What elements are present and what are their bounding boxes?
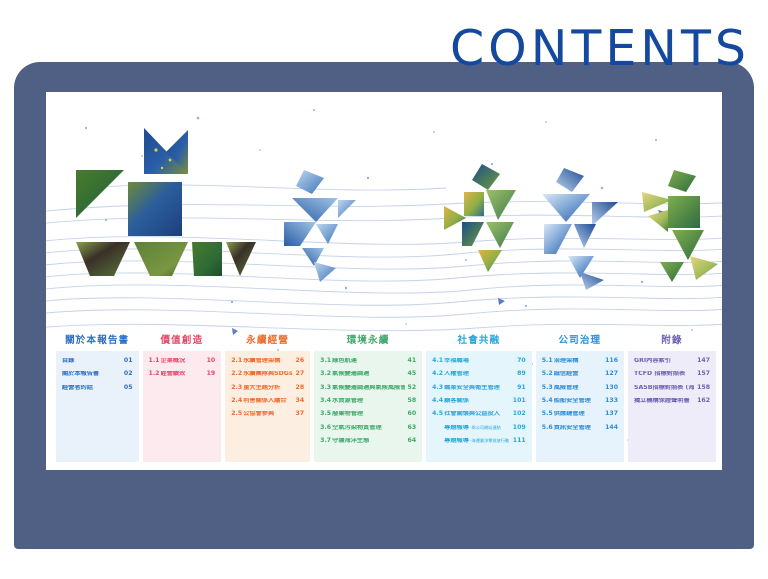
toc-entry-title: 專題報導 ·海運業淨零排放行動 xyxy=(444,438,510,445)
toc-entry[interactable]: 3.2氣候變遷調適45 xyxy=(320,371,416,378)
toc-entry[interactable]: 專題報導 ·海運業淨零排放行動111 xyxy=(432,438,526,445)
column-header-about-report: 關於本報告書 xyxy=(56,332,139,351)
toc-entry[interactable]: 4.4顧客關係101 xyxy=(432,398,526,405)
toc-entry-title: 守護海洋生態 xyxy=(332,438,404,445)
column-body-about-report: 目錄01關於本報告書02經營者的話05 xyxy=(56,351,139,462)
toc-entry-page: 41 xyxy=(405,358,417,365)
toc-entry-title: 永續團隊與SDGs xyxy=(243,371,292,378)
toc-entry-title: 目錄 xyxy=(62,358,121,365)
toc-entry-title: 經營績效 xyxy=(161,371,204,378)
column-header-appendix: 附錄 xyxy=(628,332,716,351)
toc-entry[interactable]: 3.1綠色航運41 xyxy=(320,358,416,365)
toc-entry-page: 26 xyxy=(293,358,305,365)
toc-entry-title-text: 企業概況 xyxy=(161,358,186,364)
toc-entry-title-text: 氣候變遷調適與氣候風險管理 xyxy=(332,385,404,391)
toc-entry[interactable]: 2.1永續管理架構26 xyxy=(231,358,304,365)
toc-entry-title: 氣候變遷調適 xyxy=(332,371,404,378)
contents-columns: 關於本報告書目錄01關於本報告書02經營者的話05價值創造1.1企業概況101.… xyxy=(56,332,716,462)
page-title: CONTENTS xyxy=(450,24,750,73)
toc-entry-title-text: 空氣污染物質管理 xyxy=(332,425,382,431)
toc-entry-number: 3.5 xyxy=(320,411,332,418)
toc-entry-page: 101 xyxy=(510,398,526,405)
toc-entry-title-text: 重大主題分析 xyxy=(243,385,280,391)
toc-entry-title: 專題報導 ·與公司網站連結 xyxy=(444,425,510,432)
toc-entry-title-text: 職業安全與衛生管理 xyxy=(444,385,500,391)
toc-entry[interactable]: 1.2經營績效19 xyxy=(149,371,216,378)
column-body-environmental-sustainability: 3.1綠色航運413.2氣候變遷調適453.3氣候變遷調適與氣候風險管理523.… xyxy=(314,351,422,462)
column-header-sustainable-management: 永續經營 xyxy=(225,332,310,351)
toc-entry-title: 廢棄物管理 xyxy=(332,411,404,418)
toc-entry-page: 127 xyxy=(602,371,618,378)
toc-entry-title: 社會關懷與公益投入 xyxy=(444,411,510,418)
toc-entry-title: 水資源管理 xyxy=(332,398,404,405)
toc-entry-number: 3.7 xyxy=(320,438,332,445)
toc-entry-page: 34 xyxy=(293,398,305,405)
toc-entry[interactable]: 3.3氣候變遷調適與氣候風險管理52 xyxy=(320,385,416,392)
toc-entry-title-text: SASB指標對照表 (海洋運輸業) xyxy=(634,385,694,391)
toc-entry-title: 利害關係人議合 xyxy=(243,398,292,405)
toc-entry-number: 3.4 xyxy=(320,398,332,405)
toc-entry-page: 05 xyxy=(121,385,133,392)
toc-entry-page: 27 xyxy=(293,371,305,378)
toc-entry-page: 58 xyxy=(405,398,417,405)
column-body-sustainable-management: 2.1永續管理架構262.2永續團隊與SDGs272.3重大主題分析282.4利… xyxy=(225,351,310,462)
toc-entry-page: 116 xyxy=(602,358,618,365)
toc-entry-title-text: 經營者的話 xyxy=(62,385,93,391)
column-header-corporate-governance: 公司治理 xyxy=(536,332,624,351)
toc-entry-title-text: 船舶安全管理 xyxy=(554,398,591,404)
toc-entry-number: 5.4 xyxy=(542,398,554,405)
column-header-value-creation: 價值創造 xyxy=(143,332,222,351)
toc-entry-title: 空氣污染物質管理 xyxy=(332,425,404,432)
toc-entry-page: 02 xyxy=(121,371,133,378)
toc-entry-number: 5.6 xyxy=(542,425,554,432)
toc-entry-title: 人權管理 xyxy=(444,371,514,378)
toc-entry[interactable]: 4.2人權管理89 xyxy=(432,371,526,378)
column-body-social-inclusion: 4.1幸福職場704.2人權管理894.3職業安全與衛生管理914.4顧客關係1… xyxy=(426,351,532,462)
toc-entry[interactable]: 2.4利害關係人議合34 xyxy=(231,398,304,405)
toc-entry-subtitle: ·海運業淨零排放行動 xyxy=(469,438,509,443)
toc-entry[interactable]: 2.3重大主題分析28 xyxy=(231,385,304,392)
toc-entry-title: 幸福職場 xyxy=(444,358,514,365)
toc-entry-title-text: 水資源管理 xyxy=(332,398,363,404)
toc-entry[interactable]: 2.2永續團隊與SDGs27 xyxy=(231,371,304,378)
toc-entry-page: 89 xyxy=(514,371,526,378)
toc-entry-title-text: 專題報導 xyxy=(444,438,469,444)
toc-entry-page: 52 xyxy=(405,385,417,392)
toc-entry-page: 111 xyxy=(510,438,526,445)
toc-entry[interactable]: 4.5社會關懷與公益投入102 xyxy=(432,411,526,418)
toc-entry-page: 37 xyxy=(293,411,305,418)
toc-entry-page: 158 xyxy=(694,385,710,392)
toc-entry-number: 3.1 xyxy=(320,358,332,365)
toc-entry-number: 4.1 xyxy=(432,358,444,365)
toc-entry-title: 重大主題分析 xyxy=(243,385,292,392)
column-body-value-creation: 1.1企業概況101.2經營績效19 xyxy=(143,351,222,462)
toc-entry-title: 關於本報告書 xyxy=(62,371,121,378)
contents-column-social-inclusion: 社會共融4.1幸福職場704.2人權管理894.3職業安全與衛生管理914.4顧… xyxy=(426,332,532,462)
toc-entry-number: 2.4 xyxy=(231,398,243,405)
toc-entry-page: 64 xyxy=(405,438,417,445)
toc-entry-title-text: 誠信經營 xyxy=(554,371,579,377)
toc-entry[interactable]: 4.3職業安全與衛生管理91 xyxy=(432,385,526,392)
toc-entry-number: 5.5 xyxy=(542,411,554,418)
toc-entry-number: 1.1 xyxy=(149,358,161,365)
toc-entry-number: 5.3 xyxy=(542,385,554,392)
toc-entry[interactable]: GRI內容索引147 xyxy=(634,358,710,365)
toc-entry[interactable]: 4.1幸福職場70 xyxy=(432,358,526,365)
toc-entry-title: 船舶安全管理 xyxy=(554,398,602,405)
toc-entry-title: TCFD 指標對照表 xyxy=(634,371,694,378)
toc-entry-page: 137 xyxy=(602,411,618,418)
column-body-appendix: GRI內容索引147TCFD 指標對照表157SASB指標對照表 (海洋運輸業)… xyxy=(628,351,716,462)
toc-entry-number: 4.2 xyxy=(432,371,444,378)
toc-entry-page: 19 xyxy=(204,371,216,378)
toc-entry[interactable]: 經營者的話05 xyxy=(62,385,133,392)
toc-entry-page: 109 xyxy=(510,425,526,432)
toc-entry-page: 144 xyxy=(602,425,618,432)
toc-entry-title-text: 治理架構 xyxy=(554,358,579,364)
toc-entry-page: 10 xyxy=(204,358,216,365)
toc-entry-title-text: GRI內容索引 xyxy=(634,358,671,364)
toc-entry-number: 1.2 xyxy=(149,371,161,378)
tangram-leaf-figure-art xyxy=(638,170,722,288)
toc-entry-number: 3.6 xyxy=(320,425,332,432)
contents-page: 關於本報告書目錄01關於本報告書02經營者的話05價值創造1.1企業概況101.… xyxy=(46,92,722,470)
toc-entry[interactable]: 3.4水資源管理58 xyxy=(320,398,416,405)
toc-entry-number: 2.1 xyxy=(231,358,243,365)
toc-entry-title: 永續管理架構 xyxy=(243,358,292,365)
toc-entry-page: 91 xyxy=(514,385,526,392)
toc-entry-title: 綠色航運 xyxy=(332,358,404,365)
column-header-environmental-sustainability: 環境永續 xyxy=(314,332,422,351)
toc-entry-page: 162 xyxy=(694,398,710,405)
toc-entry-page: 102 xyxy=(510,411,526,418)
column-header-social-inclusion: 社會共融 xyxy=(426,332,532,351)
toc-entry-number: 2.2 xyxy=(231,371,243,378)
toc-entry-title-text: TCFD 指標對照表 xyxy=(634,371,685,377)
toc-entry-title-text: 社會關懷與公益投入 xyxy=(444,411,500,417)
toc-entry-page: 60 xyxy=(405,411,417,418)
toc-entry-title: 職業安全與衛生管理 xyxy=(444,385,514,392)
toc-entry-number: 2.5 xyxy=(231,411,243,418)
toc-entry-title: 資訊安全管理 xyxy=(554,425,602,432)
toc-entry-title: 供應鏈管理 xyxy=(554,411,602,418)
toc-entry[interactable]: 2.5公協會參與37 xyxy=(231,411,304,418)
contents-column-appendix: 附錄GRI內容索引147TCFD 指標對照表157SASB指標對照表 (海洋運輸… xyxy=(628,332,716,462)
toc-entry[interactable]: 3.7守護海洋生態64 xyxy=(320,438,416,445)
toc-entry-title: 風險管理 xyxy=(554,385,602,392)
toc-entry-title-text: 經營績效 xyxy=(161,371,186,377)
toc-entry-title: 企業概況 xyxy=(161,358,204,365)
toc-entry-title: 獨立機構保證聲明書 xyxy=(634,398,694,405)
toc-entry[interactable]: 獨立機構保證聲明書162 xyxy=(634,398,710,405)
toc-entry[interactable]: 1.1企業概況10 xyxy=(149,358,216,365)
toc-entry-title: 公協會參與 xyxy=(243,411,292,418)
toc-entry-title-text: 人權管理 xyxy=(444,371,469,377)
toc-entry-title: SASB指標對照表 (海洋運輸業) xyxy=(634,385,694,392)
toc-entry-title: 顧客關係 xyxy=(444,398,510,405)
contents-column-value-creation: 價值創造1.1企業概況101.2經營績效19 xyxy=(143,332,222,462)
toc-entry-title: 氣候變遷調適與氣候風險管理 xyxy=(332,385,404,392)
toc-entry-title: 經營者的話 xyxy=(62,385,121,392)
toc-entry-title-text: 永續團隊與SDGs xyxy=(243,371,292,377)
tangram-green-figure-art xyxy=(438,164,534,282)
toc-entry-subtitle: ·與公司網站連結 xyxy=(469,425,501,430)
toc-entry-number: 5.2 xyxy=(542,371,554,378)
contents-column-corporate-governance: 公司治理5.1治理架構1165.2誠信經營1275.3風險管理1305.4船舶安… xyxy=(536,332,624,462)
toc-entry-title-text: 獨立機構保證聲明書 xyxy=(634,398,690,404)
toc-entry[interactable]: TCFD 指標對照表157 xyxy=(634,371,710,378)
toc-entry-title: 治理架構 xyxy=(554,358,602,365)
toc-entry-page: 45 xyxy=(405,371,417,378)
toc-entry-title-text: 廢棄物管理 xyxy=(332,411,363,417)
toc-entry-number: 4.4 xyxy=(432,398,444,405)
toc-entry-title-text: 氣候變遷調適 xyxy=(332,371,369,377)
toc-entry-title-text: 關於本報告書 xyxy=(62,371,99,377)
toc-entry-number: 3.3 xyxy=(320,385,332,392)
toc-entry-page: 28 xyxy=(293,385,305,392)
toc-entry[interactable]: 目錄01 xyxy=(62,358,133,365)
tangram-blue-figure-art xyxy=(280,170,370,282)
toc-entry[interactable]: 5.3風險管理130 xyxy=(542,385,618,392)
tangram-striped-figure-art xyxy=(538,168,638,290)
toc-entry-title: 誠信經營 xyxy=(554,371,602,378)
toc-entry-number: 4.3 xyxy=(432,385,444,392)
contents-column-environmental-sustainability: 環境永續3.1綠色航運413.2氣候變遷調適453.3氣候變遷調適與氣候風險管理… xyxy=(314,332,422,462)
toc-entry-number: 3.2 xyxy=(320,371,332,378)
toc-entry-number: 5.1 xyxy=(542,358,554,365)
toc-entry-title-text: 永續管理架構 xyxy=(243,358,280,364)
toc-entry[interactable]: 關於本報告書02 xyxy=(62,371,133,378)
toc-entry[interactable]: 5.4船舶安全管理133 xyxy=(542,398,618,405)
toc-entry[interactable]: 5.1治理架構116 xyxy=(542,358,618,365)
toc-entry-page: 63 xyxy=(405,425,417,432)
toc-entry-page: 130 xyxy=(602,385,618,392)
toc-entry-title-text: 資訊安全管理 xyxy=(554,425,591,431)
toc-entry-title-text: 幸福職場 xyxy=(444,358,469,364)
toc-entry-title-text: 綠色航運 xyxy=(332,358,357,364)
toc-entry[interactable]: 3.5廢棄物管理60 xyxy=(320,411,416,418)
toc-entry-page: 157 xyxy=(694,371,710,378)
column-body-corporate-governance: 5.1治理架構1165.2誠信經營1275.3風險管理1305.4船舶安全管理1… xyxy=(536,351,624,462)
toc-entry-title-text: 風險管理 xyxy=(554,385,579,391)
toc-entry-title-text: 利害關係人議合 xyxy=(243,398,286,404)
toc-entry[interactable]: 5.5供應鏈管理137 xyxy=(542,411,618,418)
toc-entry-title: GRI內容索引 xyxy=(634,358,694,365)
toc-entry-title-text: 專題報導 xyxy=(444,425,469,431)
toc-entry[interactable]: 專題報導 ·與公司網站連結109 xyxy=(432,425,526,432)
toc-entry-title-text: 供應鏈管理 xyxy=(554,411,585,417)
toc-entry-page: 133 xyxy=(602,398,618,405)
toc-entry[interactable]: SASB指標對照表 (海洋運輸業)158 xyxy=(634,385,710,392)
toc-entry-number: 2.3 xyxy=(231,385,243,392)
tangram-sailboat-art xyxy=(70,126,260,286)
toc-entry-title-text: 公協會參與 xyxy=(243,411,274,417)
toc-entry[interactable]: 5.2誠信經營127 xyxy=(542,371,618,378)
contents-column-sustainable-management: 永續經營2.1永續管理架構262.2永續團隊與SDGs272.3重大主題分析28… xyxy=(225,332,310,462)
toc-entry[interactable]: 3.6空氣污染物質管理63 xyxy=(320,425,416,432)
toc-entry-page: 70 xyxy=(514,358,526,365)
toc-entry-title-text: 守護海洋生態 xyxy=(332,438,369,444)
toc-entry-title-text: 顧客關係 xyxy=(444,398,469,404)
toc-entry-page: 147 xyxy=(694,358,710,365)
toc-entry-number: 4.5 xyxy=(432,411,444,418)
contents-column-about-report: 關於本報告書目錄01關於本報告書02經營者的話05 xyxy=(56,332,139,462)
toc-entry-page: 01 xyxy=(121,358,133,365)
toc-entry-title-text: 目錄 xyxy=(62,358,74,364)
toc-entry[interactable]: 5.6資訊安全管理144 xyxy=(542,425,618,432)
